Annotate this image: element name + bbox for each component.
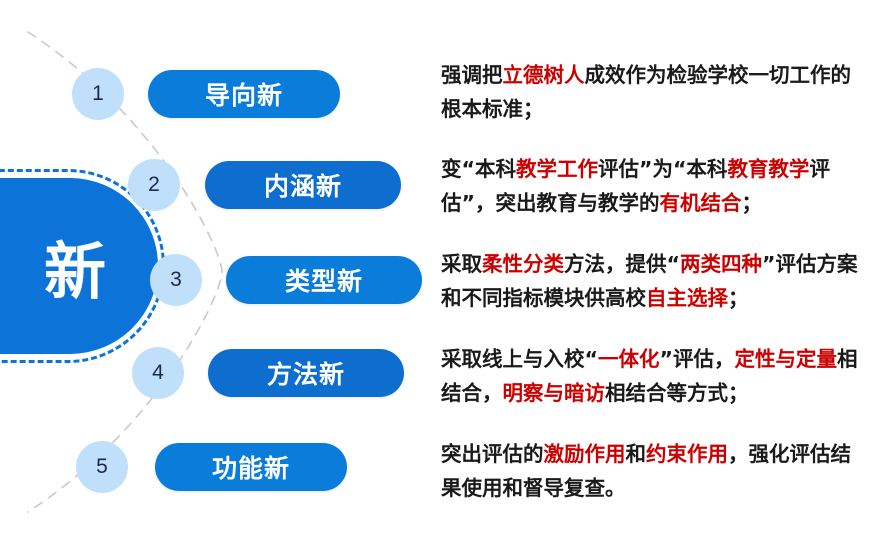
step-number-3: 3: [150, 254, 202, 306]
pill-2[interactable]: 内涵新: [205, 161, 401, 209]
description-text: 变“本科: [441, 157, 516, 181]
description-text: ；: [741, 191, 762, 215]
hero-badge-label: 新: [0, 178, 152, 354]
description-text: ”评估，: [659, 347, 734, 371]
description-text: 和: [626, 442, 647, 466]
description-5: 突出评估的激励作用和约束作用，强化评估结果使用和督导复查。: [441, 437, 871, 505]
description-highlight: 柔性分类: [482, 252, 564, 276]
description-highlight: 教学工作: [516, 157, 598, 181]
step-number-4: 4: [132, 347, 184, 399]
description-text: 方法，提供“: [564, 252, 680, 276]
description-text: 相结合等方式；: [605, 381, 749, 405]
pill-5[interactable]: 功能新: [155, 443, 347, 491]
description-4: 采取线上与入校“一体化”评估，定性与定量相结合，明察与暗访相结合等方式；: [441, 342, 871, 410]
description-highlight: 立德树人: [503, 63, 585, 87]
description-2: 变“本科教学工作评估”为“本科教育教学评估”，突出教育与教学的有机结合；: [441, 152, 871, 220]
description-highlight: 定性与定量: [734, 347, 837, 371]
description-highlight: 激励作用: [544, 442, 626, 466]
pill-4[interactable]: 方法新: [208, 349, 404, 397]
description-3: 采取柔性分类方法，提供“两类四种”评估方案和不同指标模块供高校自主选择；: [441, 247, 871, 315]
description-highlight: 两类四种: [680, 252, 762, 276]
step-number-2: 2: [128, 159, 180, 211]
step-number-1: 1: [72, 68, 124, 120]
pill-3[interactable]: 类型新: [226, 256, 422, 304]
description-text: 采取线上与入校“: [441, 347, 598, 371]
description-highlight: 有机结合: [659, 191, 741, 215]
description-highlight: 自主选择: [646, 286, 728, 310]
description-highlight: 明察与暗访: [503, 381, 606, 405]
description-1: 强调把立德树人成效作为检验学校一切工作的根本标准；: [441, 58, 871, 126]
step-number-5: 5: [76, 441, 128, 493]
description-text: 突出评估的: [441, 442, 544, 466]
diagram-canvas: 新 1导向新强调把立德树人成效作为检验学校一切工作的根本标准；2内涵新变“本科教…: [0, 0, 886, 544]
description-text: 强调把: [441, 63, 503, 87]
description-text: 评估”为“本科: [598, 157, 727, 181]
description-text: 采取: [441, 252, 482, 276]
description-highlight: 约束作用: [646, 442, 728, 466]
pill-1[interactable]: 导向新: [148, 70, 340, 118]
description-highlight: 一体化: [598, 347, 660, 371]
description-highlight: 教育教学: [727, 157, 809, 181]
description-text: ；: [728, 286, 749, 310]
